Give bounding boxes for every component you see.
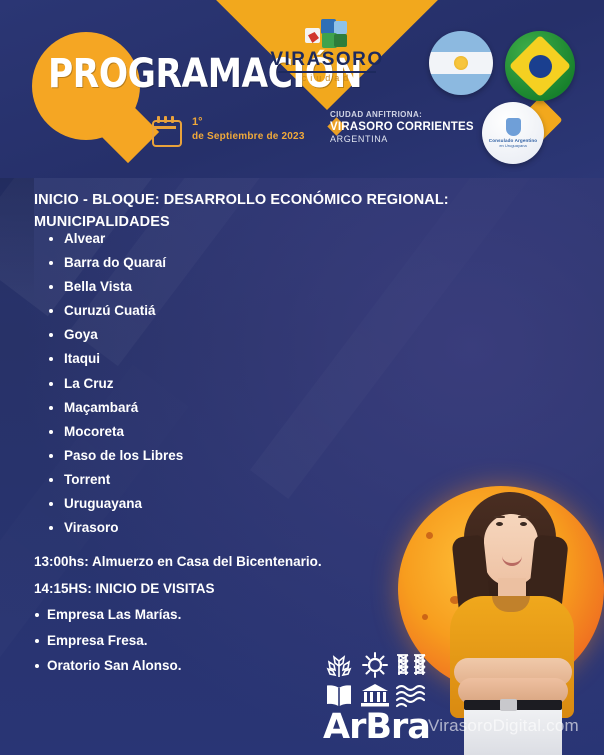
municipality-list-item: Goya — [44, 328, 183, 342]
municipality-list-item: Virasoro — [44, 521, 183, 535]
host-city-name: VIRASORO CORRIENTES — [330, 121, 480, 133]
municipality-list-item: Bella Vista — [44, 280, 183, 294]
open-book-icon — [323, 682, 355, 708]
municipality-list-item: La Cruz — [44, 377, 183, 391]
municipality-list-item: Paso de los Libres — [44, 449, 183, 463]
visit-list-item: Empresa Fresa. — [34, 634, 434, 648]
argentina-flag-icon — [429, 31, 493, 95]
host-city-country: ARGENTINA — [330, 134, 480, 144]
poster-header: PROGRAMACIÓN VIRASORO ciudad 1° de Septi… — [0, 0, 604, 178]
host-city-label: CIUDAD ANFITRIONA: — [330, 110, 480, 119]
government-building-icon — [359, 682, 391, 708]
municipality-list-item: Alvear — [44, 232, 183, 246]
virasoro-logo-name: VIRASORO — [262, 50, 392, 69]
schedule-lines: 13:00hs: Almuerzo en Casa del Bicentenar… — [34, 555, 434, 595]
sun-gear-icon — [359, 652, 391, 678]
municipality-list-item: Maçambará — [44, 401, 183, 415]
consulate-line-2: en Uruguayana — [499, 143, 526, 148]
brazil-flag-icon — [505, 31, 575, 101]
arbra-icon-grid — [323, 652, 499, 708]
consulate-badge: Consulado Argentino en Uruguayana — [482, 102, 544, 164]
schedule-item: 14:15HS: INICIO DE VISITAS — [34, 582, 434, 596]
virasoro-squares-icon — [305, 18, 349, 48]
municipality-list-item: Itaqui — [44, 352, 183, 366]
municipality-list-item: Uruguayana — [44, 497, 183, 511]
event-date-month-year: de Septiembre de 2023 — [192, 131, 305, 142]
municipality-list-item: Mocoreta — [44, 425, 183, 439]
consulate-shield-icon — [506, 118, 521, 136]
calendar-icon — [152, 116, 180, 144]
watermark: VirasoroDigital.com — [428, 716, 579, 736]
wheat-icon — [323, 652, 355, 678]
water-waves-icon — [395, 682, 427, 708]
schedule-item: 13:00hs: Almuerzo en Casa del Bicentenar… — [34, 555, 434, 569]
poster-canvas: PROGRAMACIÓN VIRASORO ciudad 1° de Septi… — [0, 0, 604, 755]
event-date-day: 1° — [192, 116, 203, 128]
municipality-list: AlvearBarra do QuaraíBella VistaCuruzú C… — [44, 232, 183, 545]
virasoro-logo: VIRASORO ciudad — [262, 18, 392, 83]
section-title: INICIO - BLOQUE: DESARROLLO ECONÓMICO RE… — [34, 190, 514, 234]
visit-list-item: Empresa Las Marías. — [34, 608, 434, 622]
municipality-list-item: Torrent — [44, 473, 183, 487]
municipality-list-item: Barra do Quaraí — [44, 256, 183, 270]
power-tower-icon — [395, 652, 427, 678]
virasoro-logo-subtitle: ciudad — [262, 74, 392, 83]
municipality-list-item: Curuzú Cuatiá — [44, 304, 183, 318]
host-city-block: CIUDAD ANFITRIONA: VIRASORO CORRIENTES A… — [330, 110, 480, 144]
